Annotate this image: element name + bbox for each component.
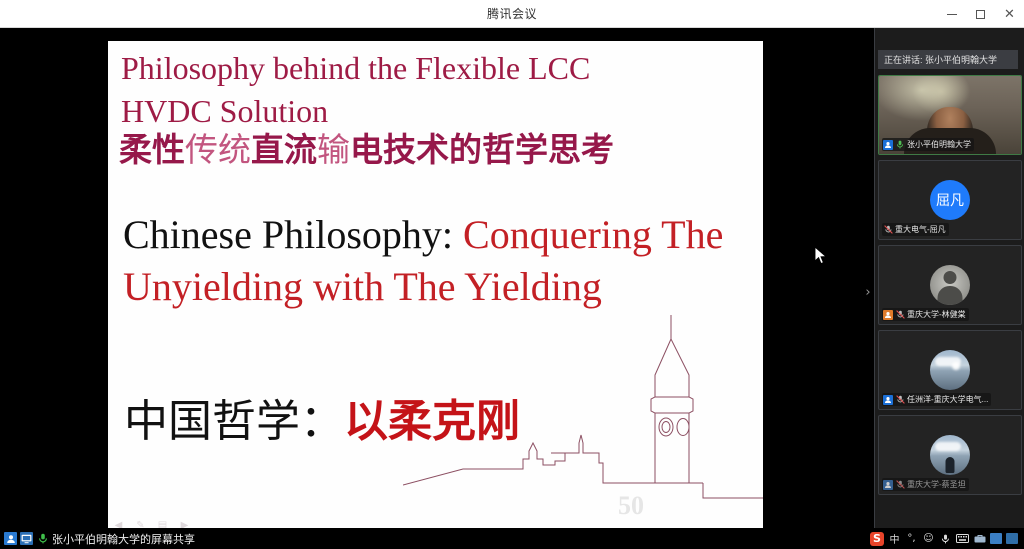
- ime-language-mode[interactable]: 中: [888, 532, 901, 545]
- screen-share-icon: [20, 532, 33, 545]
- tile-label-text: 任洲洋-重庆大学电气...: [907, 394, 988, 405]
- tile-label-text: 重庆大学-林健棠: [907, 309, 966, 320]
- avatar-photo-sea: [930, 350, 970, 390]
- mic-off-icon: [895, 395, 905, 405]
- close-icon: ✕: [1004, 8, 1015, 21]
- video-tile-cai-shengtan[interactable]: 重庆大学-蔡圣坦: [878, 415, 1022, 495]
- sidebar-collapse-handle[interactable]: ›: [862, 275, 874, 309]
- video-tile-list: 张小平伯明翰大学 屈凡 重大电气-屈凡: [878, 75, 1022, 500]
- taskbar-item-label: 张小平伯明翰大学的屏幕共享: [52, 531, 195, 547]
- active-speaker-label: 正在讲话: 张小平伯明翰大学: [884, 53, 997, 66]
- tile-label-cai-shengtan: 重庆大学-蔡圣坦: [882, 478, 969, 491]
- app-root: 腾讯会议 ✕: [0, 0, 1024, 549]
- tile-label-zhang-xiaoping: 张小平伯明翰大学: [882, 138, 974, 151]
- mic-on-icon: [895, 140, 905, 150]
- sun-shape: [952, 362, 960, 370]
- video-tile-zhang-xiaoping[interactable]: 张小平伯明翰大学: [878, 75, 1022, 155]
- slide-title-line2: HVDC Solution: [121, 90, 741, 133]
- voice-input-icon[interactable]: [939, 532, 952, 545]
- mic-off-icon: [895, 480, 905, 490]
- mic-on-icon: [36, 532, 49, 545]
- skin-icon[interactable]: [990, 533, 1002, 544]
- video-tile-qu-fan[interactable]: 屈凡 重大电气-屈凡: [878, 160, 1022, 240]
- title-bar: 腾讯会议 ✕: [0, 0, 1024, 28]
- toolbox-icon[interactable]: [973, 532, 986, 545]
- maximize-icon: [976, 10, 985, 19]
- presentation-slide[interactable]: Philosophy behind the Flexible LCC HVDC …: [108, 41, 763, 533]
- participant-icon: [883, 395, 893, 405]
- avatar-silhouette: [930, 265, 970, 305]
- tile-label-lin-jianlin: 重庆大学-林健棠: [882, 308, 969, 321]
- slide-title: Philosophy behind the Flexible LCC HVDC …: [121, 47, 741, 133]
- window-controls: ✕: [937, 0, 1024, 28]
- video-tile-lin-jianlin[interactable]: 重庆大学-林健棠: [878, 245, 1022, 325]
- participant-icon: [883, 310, 893, 320]
- subtitle-part-4: 电: [350, 130, 383, 169]
- avatar-initials: 屈凡: [930, 180, 970, 220]
- window-title: 腾讯会议: [487, 5, 537, 22]
- active-speaker-banner: 正在讲话: 张小平伯明翰大学: [878, 50, 1018, 69]
- body-label-black: Chinese Philosophy:: [123, 212, 463, 257]
- cloud-shape: [935, 442, 961, 451]
- maximize-button[interactable]: [966, 0, 995, 28]
- tile-label-text: 重大电气-屈凡: [895, 224, 946, 235]
- person-silhouette: [946, 457, 955, 473]
- video-tile-ren-zhouyang[interactable]: 任洲洋-重庆大学电气...: [878, 330, 1022, 410]
- ime-punctuation-mode[interactable]: °,: [905, 532, 918, 545]
- subtitle-part-5: 技术的哲学思考: [383, 130, 614, 169]
- body-cn-text-red: 以柔克刚: [344, 396, 520, 447]
- slide-number: 50: [618, 491, 644, 521]
- participant-icon: [883, 480, 893, 490]
- subtitle-part-3: 输: [317, 130, 350, 169]
- close-button[interactable]: ✕: [995, 0, 1024, 28]
- slide-body-english: Chinese Philosophy: Conquering The Unyie…: [123, 209, 763, 312]
- tile-label-qu-fan: 重大电气-屈凡: [882, 223, 949, 236]
- taskbar: 张小平伯明翰大学的屏幕共享 S 中 °, ☺: [0, 528, 1024, 549]
- subtitle-part-0: 柔性: [119, 130, 185, 169]
- sogou-ime-logo[interactable]: S: [870, 532, 884, 546]
- slide-title-line1: Philosophy behind the Flexible LCC: [121, 47, 741, 90]
- subtitle-part-1: 传统: [185, 130, 251, 169]
- participant-icon: [4, 532, 17, 545]
- slide-subtitle-chinese: 柔性传统直流输电技术的哲学思考: [119, 131, 749, 170]
- participant-icon: [883, 140, 893, 150]
- subtitle-part-2: 直流: [251, 130, 317, 169]
- body-cn-label-black: 中国哲学：: [124, 396, 344, 447]
- tile-label-text: 重庆大学-蔡圣坦: [907, 479, 966, 490]
- shared-screen-stage[interactable]: Philosophy behind the Flexible LCC HVDC …: [0, 28, 860, 528]
- participant-sidebar: 正在讲话: 张小平伯明翰大学 张小平伯明翰大学: [874, 28, 1024, 528]
- mic-off-icon: [883, 225, 893, 235]
- mic-off-icon: [895, 310, 905, 320]
- emoji-icon[interactable]: ☺: [922, 532, 935, 545]
- tile-label-ren-zhouyang: 任洲洋-重庆大学电气...: [882, 393, 991, 406]
- apps-icon[interactable]: [1006, 533, 1018, 544]
- minimize-button[interactable]: [937, 0, 966, 28]
- minimize-icon: [947, 14, 957, 15]
- keyboard-icon[interactable]: [956, 532, 969, 545]
- taskbar-screen-share-item[interactable]: 张小平伯明翰大学的屏幕共享: [0, 528, 199, 549]
- ime-tray[interactable]: S 中 °, ☺: [870, 528, 1018, 549]
- avatar-photo-person: [930, 435, 970, 475]
- chevron-right-icon: ›: [865, 285, 870, 300]
- tile-label-text: 张小平伯明翰大学: [907, 139, 971, 150]
- slide-body-chinese: 中国哲学：以柔克刚: [124, 398, 763, 446]
